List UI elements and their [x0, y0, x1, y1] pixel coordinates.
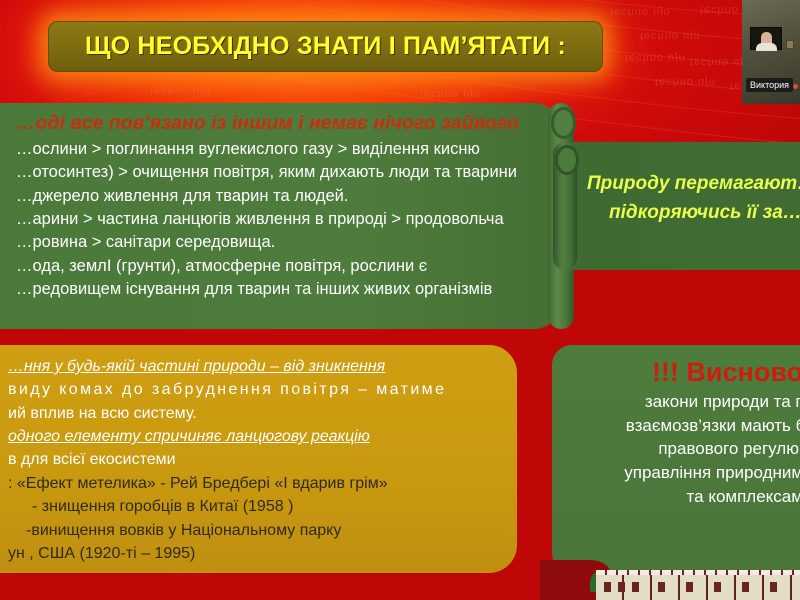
window-icon: [742, 582, 749, 592]
panel-heading: …оді все пов’язано із іншим і немає нічо…: [16, 111, 540, 136]
panel-line: правового регулюван…: [552, 437, 800, 461]
window-icon: [618, 582, 625, 592]
avatar-body: [756, 43, 777, 51]
video-participant-thumbnail[interactable]: Виктория: [742, 0, 800, 104]
conclusions-title: !!! Висново…: [552, 357, 800, 388]
window-icon: [658, 582, 665, 592]
video-frame: [750, 27, 782, 50]
panel-line: в для всієї екосистеми: [8, 448, 503, 471]
panel-line: …арини > частина ланцюгів живлення в при…: [16, 208, 540, 231]
panel-line: та комплексами…: [552, 485, 800, 509]
panel-nature-quote: Природу перемагают… підкоряючись її за…: [553, 142, 800, 270]
window-icon: [686, 582, 693, 592]
panel-line: …ровина > санітари середовища.: [16, 231, 540, 254]
panel-conclusions: !!! Висново… закони природи та пр… взаєм…: [552, 345, 800, 573]
panel-line: …отосинтез) > очищення повітря, яким дих…: [16, 161, 540, 184]
panel-line: …ода, землI (грунти), атмосферне повітря…: [16, 255, 540, 278]
page-title: ЩО НЕОБХІДНО ЗНАТИ І ПАМ’ЯТАТИ :: [85, 32, 566, 61]
window-icon: [714, 582, 721, 592]
slide-title-box: ЩО НЕОБХІДНО ЗНАТИ І ПАМ’ЯТАТИ :: [48, 21, 603, 72]
texture-text: techno ujn: [150, 84, 211, 96]
wall-picture-decoration: [786, 40, 794, 49]
panel-line: управління природними р…: [552, 461, 800, 485]
panel-line: закони природи та пр…: [552, 390, 800, 414]
texture-text: techno ujn: [610, 6, 671, 18]
window-icon: [604, 582, 611, 592]
presentation-slide: techno ujn techno ujn techno ujn techno …: [0, 0, 800, 600]
panel-line: …редовищем існування для тварин та інших…: [16, 278, 540, 301]
panel-chain-reaction: …ння у будь-якій частині природи – від з…: [0, 345, 517, 573]
panel-line: ий вплив на всю систему.: [8, 402, 503, 425]
microphone-status-icon: [793, 84, 798, 89]
quote-line: Природу перемагают…: [587, 170, 800, 199]
quote-line: підкоряючись її за…: [587, 199, 800, 228]
panel-line: ун , США (1920-ті – 1995): [8, 542, 503, 565]
panel-line: …ння у будь-якій частині природи – від з…: [8, 355, 503, 378]
texture-text: techno ujn: [655, 76, 716, 88]
panel-line: …джерело живлення для тварин та людей.: [16, 185, 540, 208]
panel-nature-interconnection: …оді все пов’язано із іншим і немає нічо…: [0, 103, 560, 329]
panel-line: - знищення горобців в Китаї (1958 ): [8, 495, 503, 518]
panel-line: -винищення вовків у Національному парку: [8, 519, 503, 542]
panel-line: взаємозв’язки мають бут…: [552, 414, 800, 438]
window-icon: [770, 582, 777, 592]
texture-text: techno ujn: [625, 52, 686, 64]
participant-name-label: Виктория: [746, 78, 793, 92]
panel-line: …ослини > поглинання вуглекислого газу >…: [16, 138, 540, 161]
panel-line: виду комах до забруднення повітря – мати…: [8, 378, 503, 401]
window-icon: [632, 582, 639, 592]
texture-text: techno ujn: [640, 30, 701, 42]
texture-text: techno ujn: [420, 88, 481, 100]
panel-line: одного елементу спричиняє ланцюгову реак…: [8, 425, 503, 448]
footer-building-illustration: [596, 570, 800, 600]
panel-line: : «Ефект метелика» - Рей Бредбері «І вда…: [8, 472, 503, 495]
scroll-roll-icon: [553, 142, 577, 270]
